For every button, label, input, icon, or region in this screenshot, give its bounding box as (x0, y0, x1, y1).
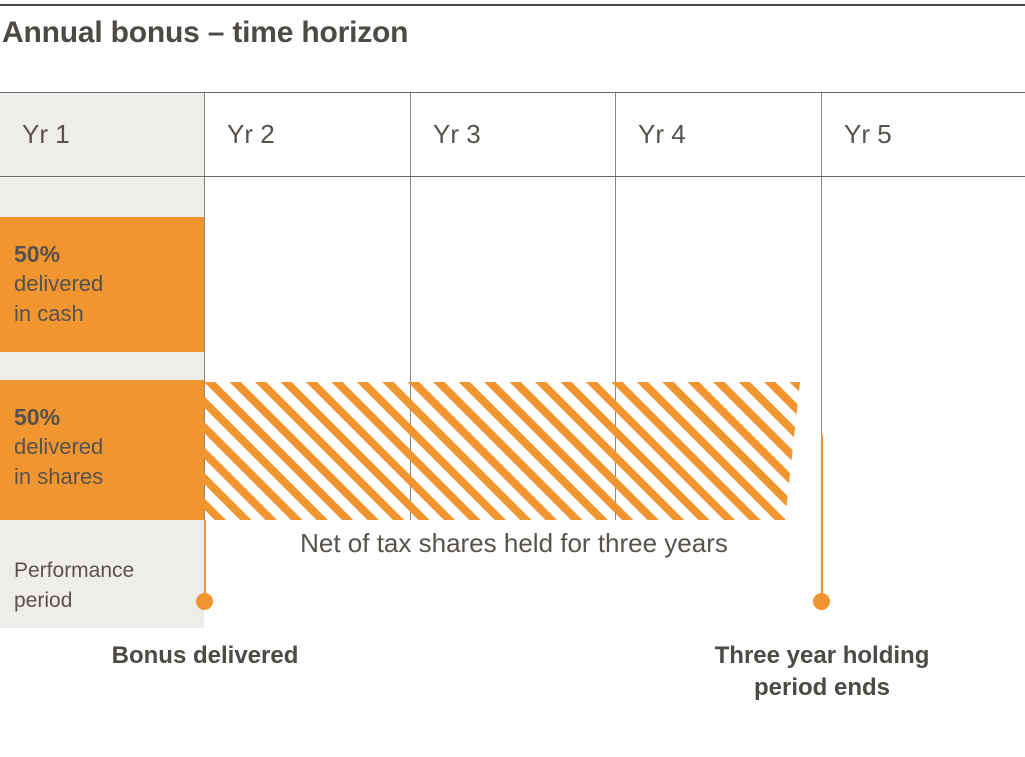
year1-spacer-top (0, 178, 204, 217)
timeline-header: Yr 1 Yr 2 Yr 3 Yr 4 Yr 5 (0, 92, 1025, 177)
block-cash-line2: in cash (14, 301, 84, 326)
milestone-dot-bonus-delivered[interactable] (196, 593, 213, 610)
timeline-column-label: Yr 5 (822, 119, 892, 150)
block-shares[interactable]: 50% delivered in shares (0, 380, 204, 520)
holding-period-caption: Net of tax shares held for three years (204, 528, 824, 559)
block-performance-line2: period (14, 589, 72, 612)
milestone-label-bonus-delivered: Bonus delivered (84, 640, 326, 672)
block-shares-line1: delivered (14, 434, 103, 459)
top-rule (0, 4, 1025, 6)
block-performance-line1: Performance (14, 559, 134, 582)
block-cash[interactable]: 50% delivered in cash (0, 217, 204, 352)
page-title: Annual bonus – time horizon (2, 16, 408, 50)
timeline-column-header-yr2[interactable]: Yr 2 (204, 93, 410, 176)
timeline-column-header-yr1[interactable]: Yr 1 (0, 93, 204, 176)
milestone-line-holding-period-ends (821, 435, 823, 605)
block-shares-line2: in shares (14, 464, 103, 489)
block-cash-line1: delivered (14, 271, 103, 296)
holding-period-hatch (204, 382, 804, 520)
block-performance-period[interactable]: Performance period (0, 520, 204, 628)
timeline-column-header-yr4[interactable]: Yr 4 (615, 93, 821, 176)
milestone-dot-holding-period-ends[interactable] (813, 593, 830, 610)
block-shares-percent: 50% (14, 402, 196, 432)
timeline-column-header-yr5[interactable]: Yr 5 (821, 93, 1025, 176)
block-cash-percent: 50% (14, 239, 196, 269)
timeline-column-label: Yr 2 (205, 119, 275, 150)
timeline-column-header-yr3[interactable]: Yr 3 (410, 93, 615, 176)
milestone-label-line2: period ends (754, 674, 890, 701)
hatch-pattern-icon (204, 382, 804, 520)
timeline-column-label: Yr 1 (0, 119, 70, 150)
timeline-column-label: Yr 4 (616, 119, 686, 150)
milestone-label-holding-period-ends: Three year holding period ends (676, 640, 968, 704)
timeline-column-label: Yr 3 (411, 119, 481, 150)
timeline-body: 50% delivered in cash 50% delivered in s… (0, 177, 1025, 628)
year1-spacer-middle (0, 352, 204, 380)
milestone-label-line1: Three year holding (715, 642, 930, 669)
